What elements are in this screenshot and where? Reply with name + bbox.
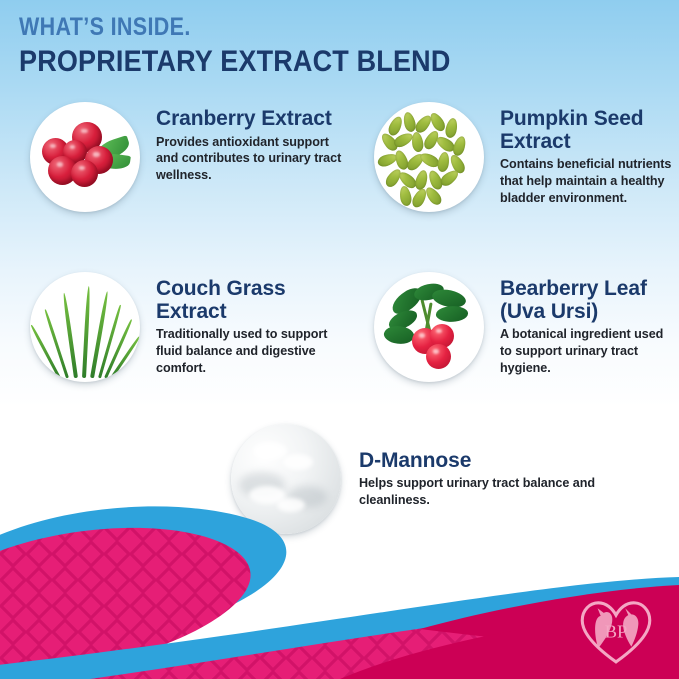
infographic-stage: WHAT’S INSIDE. PROPRIETARY EXTRACT BLEND… [0,0,679,679]
page-title: PROPRIETARY EXTRACT BLEND [19,46,595,78]
ingredient-name: Cranberry Extract [156,108,346,131]
thumb-wrap-couch-grass [30,272,140,382]
logo-monogram: BP [605,621,628,641]
ingredient-name: Couch Grass Extract [156,278,346,323]
cranberries-photo [30,102,140,212]
card-text-cranberry: Cranberry Extract Provides antioxidant s… [156,102,346,184]
ingredient-description: Contains beneficial nutrients that help … [500,156,674,206]
ingredient-card-cranberry: Cranberry Extract Provides antioxidant s… [30,102,350,212]
brand-logo: BP [577,599,655,665]
ingredient-card-bearberry: Bearberry Leaf (Uva Ursi) A botanical in… [374,272,674,382]
card-text-bearberry: Bearberry Leaf (Uva Ursi) A botanical in… [500,272,674,376]
bottom-banner: BP [0,489,679,679]
card-text-couch-grass: Couch Grass Extract Traditionally used t… [156,272,346,376]
ingredient-card-couch-grass: Couch Grass Extract Traditionally used t… [30,272,350,382]
pumpkin-seeds-photo [374,102,484,212]
ingredient-name: Bearberry Leaf (Uva Ursi) [500,278,674,323]
card-text-pumpkin-seed: Pumpkin Seed Extract Contains beneficial… [500,102,674,206]
thumb-wrap-pumpkin-seed [374,102,484,212]
couch-grass-photo [30,272,140,382]
ingredient-name: D-Mannose [359,450,649,473]
thumb-wrap-bearberry [374,272,484,382]
thumb-wrap-cranberry [30,102,140,212]
ingredient-card-pumpkin-seed: Pumpkin Seed Extract Contains beneficial… [374,102,674,212]
eyebrow-text: WHAT’S INSIDE. [19,14,569,40]
ingredient-description: Provides antioxidant support and contrib… [156,134,346,184]
bearberry-photo [374,272,484,382]
ingredient-name: Pumpkin Seed Extract [500,108,674,153]
header: WHAT’S INSIDE. PROPRIETARY EXTRACT BLEND [19,14,659,78]
heart-cat-dog-monogram-logo: BP [577,599,655,665]
ingredient-description: A botanical ingredient used to support u… [500,326,674,376]
ingredient-description: Traditionally used to support fluid bala… [156,326,346,376]
